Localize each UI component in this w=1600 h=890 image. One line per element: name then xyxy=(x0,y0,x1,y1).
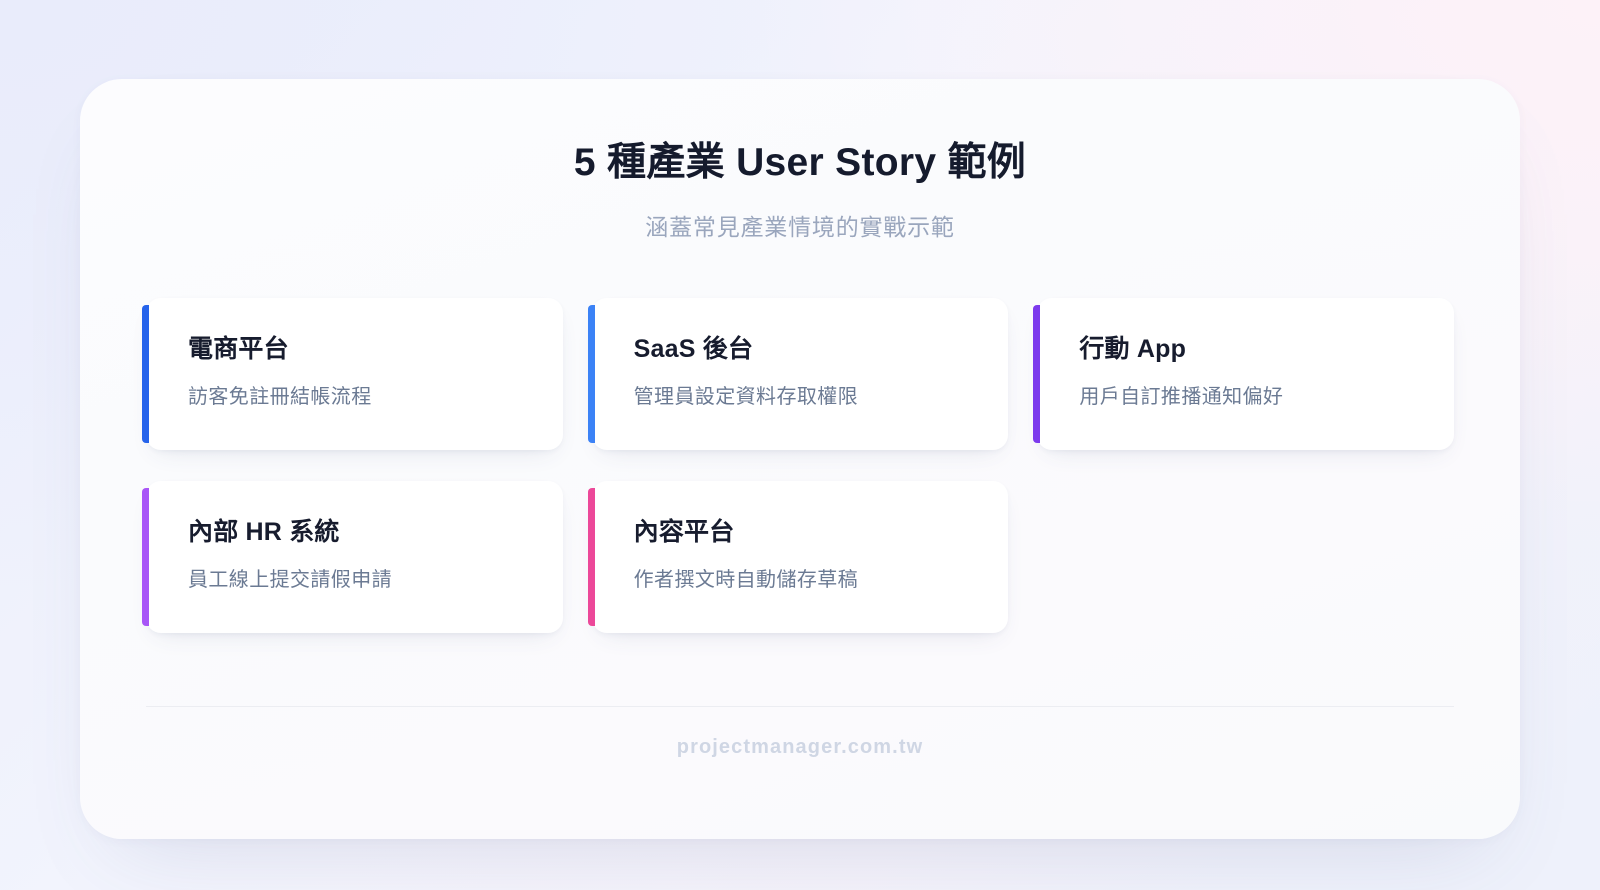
story-card[interactable]: 行動 App 用戶自訂推播通知偏好 xyxy=(1037,298,1454,450)
story-card[interactable]: 內部 HR 系統 員工線上提交請假申請 xyxy=(146,481,563,633)
page-footer: projectmanager.com.tw xyxy=(80,736,1520,759)
story-card-title: 電商平台 xyxy=(188,334,563,364)
accent-bar xyxy=(142,305,149,443)
accent-bar xyxy=(142,488,149,626)
content-panel: 5 種產業 User Story 範例 涵蓋常見產業情境的實戰示範 電商平台 訪… xyxy=(80,79,1520,839)
page-subtitle: 涵蓋常見產業情境的實戰示範 xyxy=(80,208,1520,242)
footer-divider xyxy=(146,706,1454,707)
accent-bar xyxy=(588,305,595,443)
story-card-description: 管理員設定資料存取權限 xyxy=(634,384,1009,410)
story-card-title: 內容平台 xyxy=(634,517,1009,547)
footer-site-name: projectmanager.com.tw xyxy=(80,736,1520,759)
story-card-description: 訪客免註冊結帳流程 xyxy=(188,384,563,410)
story-card-title: SaaS 後台 xyxy=(634,334,1009,364)
page-header: 5 種產業 User Story 範例 涵蓋常見產業情境的實戰示範 xyxy=(80,141,1520,242)
accent-bar xyxy=(588,488,595,626)
story-card-grid: 電商平台 訪客免註冊結帳流程 SaaS 後台 管理員設定資料存取權限 行動 Ap… xyxy=(146,298,1454,633)
accent-bar xyxy=(1033,305,1040,443)
story-card-description: 用戶自訂推播通知偏好 xyxy=(1079,384,1454,410)
story-card-description: 員工線上提交請假申請 xyxy=(188,567,563,593)
story-card-title: 內部 HR 系統 xyxy=(188,517,563,547)
story-card[interactable]: 內容平台 作者撰文時自動儲存草稿 xyxy=(592,481,1009,633)
story-card-title: 行動 App xyxy=(1079,334,1454,364)
story-card[interactable]: SaaS 後台 管理員設定資料存取權限 xyxy=(592,298,1009,450)
story-card-description: 作者撰文時自動儲存草稿 xyxy=(634,567,1009,593)
page-title: 5 種產業 User Story 範例 xyxy=(80,141,1520,186)
story-card[interactable]: 電商平台 訪客免註冊結帳流程 xyxy=(146,298,563,450)
